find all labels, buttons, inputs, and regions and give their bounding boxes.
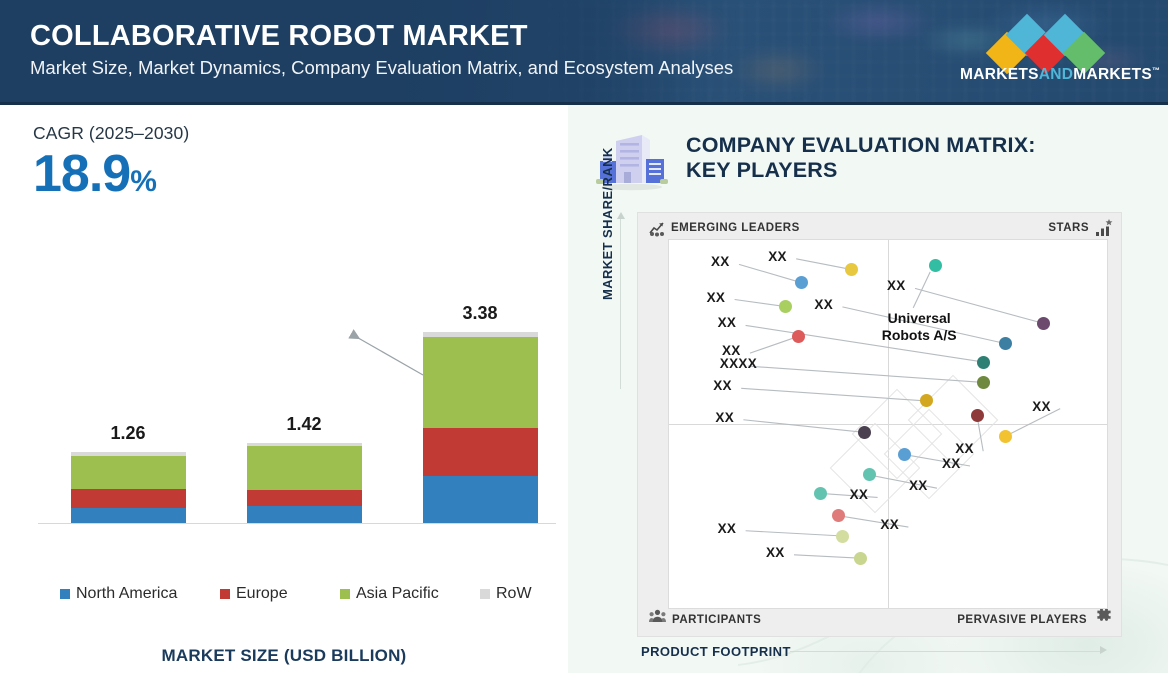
bar-segment-north-america [423, 476, 538, 523]
page-subtitle: Market Size, Market Dynamics, Company Ev… [30, 59, 733, 78]
data-point-label: XX [909, 478, 928, 493]
data-point-label: XX [887, 278, 906, 293]
data-point-dot[interactable] [977, 376, 990, 389]
quadrant-label-pervasive-players: PERVASIVE PLAYERS [957, 614, 1087, 626]
data-point-label: XX [814, 297, 833, 312]
leader-line [794, 555, 860, 558]
chart-legend: North AmericaEuropeAsia PacificRoW [60, 585, 540, 605]
bar-segment-europe [247, 490, 362, 506]
data-point-label: XX [850, 487, 869, 502]
quadrant-label-emerging-leaders: EMERGING LEADERS [671, 222, 800, 234]
legend-swatch [60, 589, 70, 599]
data-point-dot[interactable] [898, 448, 911, 461]
market-size-bar-chart: 1.2620241.4220253.382030 [33, 295, 558, 535]
stacked-bar [423, 332, 538, 523]
matrix-y-axis-title: MARKET SHARE/RANK [600, 147, 615, 300]
data-point-label: XX [955, 441, 974, 456]
data-point-label: XX [768, 249, 787, 264]
legend-label: Europe [236, 585, 288, 603]
leader-line [746, 531, 843, 536]
logo-text-markets2: MARKETS [1073, 66, 1152, 83]
named-company-line2: Robots A/S [869, 327, 969, 344]
evaluation-matrix: EMERGING LEADERS STARS PARTICIPANTS PERV… [637, 212, 1122, 637]
legend-label: RoW [496, 585, 532, 603]
stacked-bar [71, 452, 186, 523]
logo-wordmark: MARKETSANDMARKETS™ [960, 66, 1130, 84]
legend-item: Europe [220, 585, 288, 603]
cagr-label: CAGR (2025–2030) [33, 123, 189, 144]
participants-people-icon [649, 609, 666, 628]
quadrant-label-stars: STARS [1048, 222, 1089, 234]
legend-item: North America [60, 585, 177, 603]
legend-swatch [340, 589, 350, 599]
legend-item: RoW [480, 585, 532, 603]
emerging-leaders-icon [649, 222, 665, 242]
bar-segment-north-america [247, 506, 362, 523]
data-point-label: XX [711, 254, 730, 269]
matrix-y-axis-line [620, 219, 621, 389]
leader-line-named [913, 272, 930, 308]
bar-segment-europe [423, 428, 538, 476]
data-point-label: XX [713, 378, 732, 393]
page-title: COLLABORATIVE ROBOT MARKET [30, 22, 528, 51]
data-point-dot[interactable] [854, 552, 867, 565]
infographic-page: COLLABORATIVE ROBOT MARKET Market Size, … [0, 0, 1168, 673]
legend-label: Asia Pacific [356, 585, 439, 603]
legend-item: Asia Pacific [340, 585, 439, 603]
cagr-value: 18.9% [33, 148, 156, 200]
logo-text-markets: MARKETS [960, 66, 1039, 83]
matrix-leader-lines [669, 240, 1109, 610]
named-company-line1: Universal [869, 310, 969, 327]
leader-line [748, 366, 984, 382]
bar-segment-north-america [71, 508, 186, 523]
data-point-dot[interactable] [836, 530, 849, 543]
cem-title-line1: COMPANY EVALUATION MATRIX: [686, 133, 1036, 158]
bar-segment-asia-pacific [423, 337, 538, 429]
data-point-dot[interactable] [832, 509, 845, 522]
left-panel: CAGR (2025–2030) 18.9% 1.2620241.4220253… [0, 105, 568, 673]
data-point-dot[interactable] [1037, 317, 1050, 330]
bar-total-label: 1.42 [189, 414, 419, 435]
legend-swatch [480, 589, 490, 599]
company-evaluation-matrix-title: COMPANY EVALUATION MATRIX: KEY PLAYERS [686, 133, 1036, 183]
matrix-y-axis-arrow [617, 212, 625, 219]
data-point-label: XXXX [720, 356, 757, 371]
stacked-bar [247, 443, 362, 523]
leader-line [735, 300, 786, 307]
data-point-label: XX [718, 315, 737, 330]
quadrant-label-participants: PARTICIPANTS [672, 614, 761, 626]
data-point-dot[interactable] [977, 356, 990, 369]
matrix-x-axis-arrow [1100, 646, 1107, 654]
matrix-plot-area: XXXXXXXXXXXXXXXXXXXXXXXXXXXXXXXXXXXXXXUn… [668, 239, 1108, 609]
bar-total-label: 3.38 [365, 303, 595, 324]
data-point-dot[interactable] [792, 330, 805, 343]
data-point-label: XX [766, 545, 785, 560]
matrix-x-axis-line [790, 651, 1100, 652]
leader-line [796, 259, 851, 270]
puzzle-piece-icon [1095, 608, 1113, 629]
bar-segment-europe [71, 489, 186, 509]
data-point-label: XX [880, 517, 899, 532]
marketsandmarkets-logo: MARKETSANDMARKETS™ [960, 14, 1130, 90]
leader-line [741, 388, 926, 401]
matrix-x-axis-title: PRODUCT FOOTPRINT [641, 644, 791, 659]
logo-trademark: ™ [1152, 66, 1160, 75]
legend-label: North America [76, 585, 177, 603]
logo-text-and: AND [1039, 66, 1073, 83]
cagr-percent-sign: % [130, 165, 156, 198]
bar-segment-asia-pacific [71, 456, 186, 489]
data-point-label: XX [707, 290, 726, 305]
bar-segment-asia-pacific [247, 446, 362, 490]
chart-baseline [38, 523, 556, 524]
data-point-label: XX [715, 410, 734, 425]
header-left-fade [0, 0, 700, 105]
cagr-number: 18.9 [33, 145, 130, 203]
page-header: COLLABORATIVE ROBOT MARKET Market Size, … [0, 0, 1168, 105]
data-point-label: XX [718, 521, 737, 536]
legend-swatch [220, 589, 230, 599]
data-point-label: XX [722, 343, 741, 358]
leader-line [739, 264, 801, 282]
cem-title-line2: KEY PLAYERS [686, 158, 1036, 183]
data-point-label: XX [1032, 399, 1051, 414]
data-point-dot[interactable] [999, 430, 1012, 443]
named-company-label: UniversalRobots A/S [869, 310, 969, 344]
market-size-caption: MARKET SIZE (USD BILLION) [0, 646, 568, 666]
data-point-label: XX [942, 456, 961, 471]
data-point-dot[interactable] [971, 409, 984, 422]
leader-line [743, 420, 864, 433]
data-point-dot[interactable] [795, 276, 808, 289]
